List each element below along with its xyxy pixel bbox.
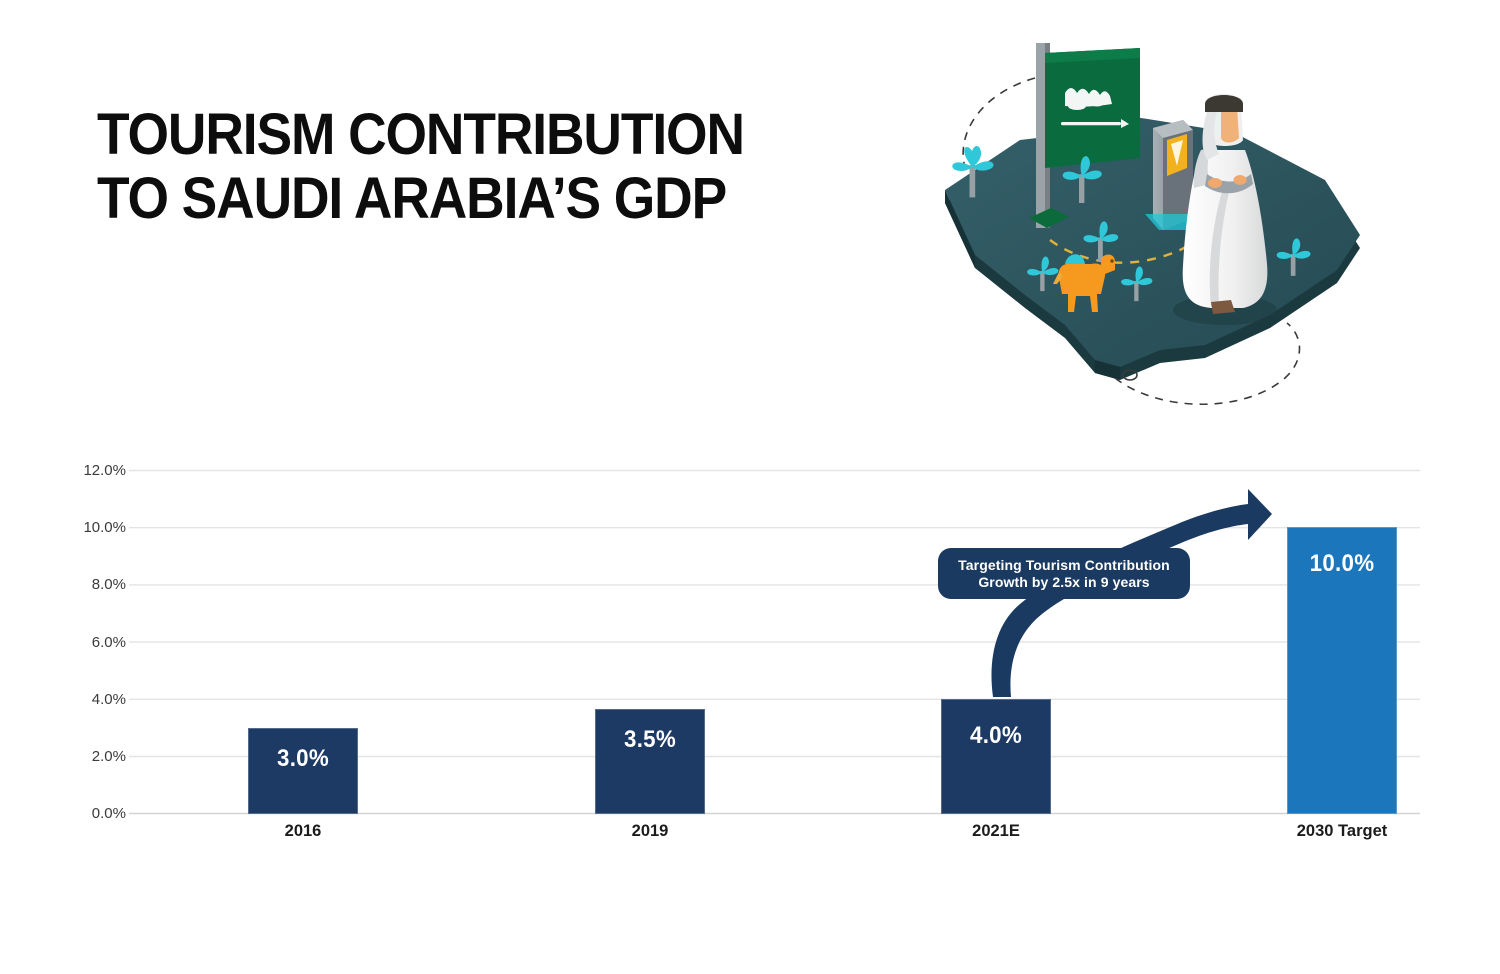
bar-label-2016: 3.0% [253,745,353,773]
bar-2019[interactable]: 3.5% [595,709,705,813]
callout-line-1: Targeting Tourism Contribution [958,557,1170,574]
ytick-label-4: 4.0% [68,692,126,707]
bar-2021E[interactable]: 4.0% [941,699,1051,814]
xtick-label-2030-target: 2030 Target [1272,822,1412,840]
page-title: TOURISM CONTRIBUTION TO SAUDI ARABIA’S G… [97,103,857,231]
illustration-svg [905,18,1385,418]
xtick-label-2016: 2016 [243,822,363,840]
bar-label-2021E: 4.0% [946,722,1046,750]
ytick-label-6: 6.0% [68,635,126,650]
slide-root: TOURISM CONTRIBUTION TO SAUDI ARABIA’S G… [0,0,1500,974]
xtick-label-2019: 2019 [590,822,710,840]
bar-label-2030-target: 10.0% [1292,550,1392,578]
callout-line-2: Growth by 2.5x in 9 years [978,574,1149,591]
bar-2030-target[interactable]: 10.0% [1287,527,1397,814]
growth-curved-arrow [991,489,1272,697]
ytick-label-12: 12.0% [68,463,126,478]
ytick-label-0: 0.0% [68,806,126,821]
bar-2016[interactable]: 3.0% [248,728,358,814]
ytick-label-2: 2.0% [68,749,126,764]
gridlines [129,471,1420,814]
ytick-label-8: 8.0% [68,577,126,592]
title-line-2: TO SAUDI ARABIA’S GDP [97,167,796,231]
title-line-1: TOURISM CONTRIBUTION [97,103,796,167]
bar-label-2019: 3.5% [600,726,700,754]
saudi-arabia-illustration [905,18,1385,418]
xtick-label-2021E: 2021E [936,822,1056,840]
growth-callout: Targeting Tourism Contribution Growth by… [938,548,1190,599]
ytick-label-10: 10.0% [68,520,126,535]
